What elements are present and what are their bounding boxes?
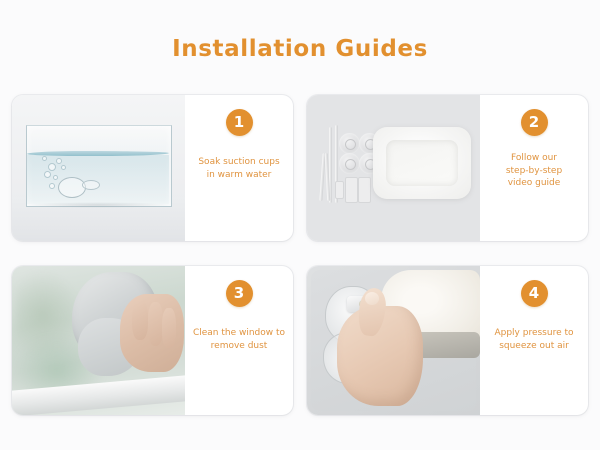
step-1-text: Soak suction cups in warm water (191, 156, 287, 181)
step-2-line-2: step-by-step (486, 165, 582, 178)
step-2-body: 2 Follow our step-by-step video guide (480, 95, 588, 241)
step-1-line-1: Soak suction cups (191, 156, 287, 169)
step-card-1[interactable]: 1 Soak suction cups in warm water (12, 95, 293, 241)
step-number-badge-3: 3 (226, 280, 253, 307)
step-3-body: 3 Clean the window to remove dust (185, 266, 293, 415)
step-card-4[interactable]: 4 Apply pressure to squeeze out air (307, 266, 588, 415)
step-4-line-2: squeeze out air (486, 340, 582, 353)
step-3-text: Clean the window to remove dust (191, 327, 287, 352)
step-2-line-3: video guide (486, 177, 582, 190)
step-1-body: 1 Soak suction cups in warm water (185, 95, 293, 241)
step-1-line-2: in warm water (191, 169, 287, 182)
step-4-line-1: Apply pressure to (486, 327, 582, 340)
step-3-line-2: remove dust (191, 340, 287, 353)
step-1-photo (12, 95, 185, 241)
step-number-badge-2: 2 (521, 109, 548, 136)
step-2-line-1: Follow our (486, 152, 582, 165)
step-4-photo (307, 266, 480, 415)
step-card-2[interactable]: 2 Follow our step-by-step video guide (307, 95, 588, 241)
step-number-badge-1: 1 (226, 109, 253, 136)
step-number-badge-4: 4 (521, 280, 548, 307)
step-4-text: Apply pressure to squeeze out air (486, 327, 582, 352)
step-3-line-1: Clean the window to (191, 327, 287, 340)
installation-steps-grid: 1 Soak suction cups in warm water (12, 95, 588, 415)
step-4-body: 4 Apply pressure to squeeze out air (480, 266, 588, 415)
step-card-3[interactable]: 3 Clean the window to remove dust (12, 266, 293, 415)
step-2-text: Follow our step-by-step video guide (486, 152, 582, 190)
page-title: Installation Guides (0, 36, 600, 62)
step-2-photo (307, 95, 480, 241)
step-3-photo (12, 266, 185, 415)
